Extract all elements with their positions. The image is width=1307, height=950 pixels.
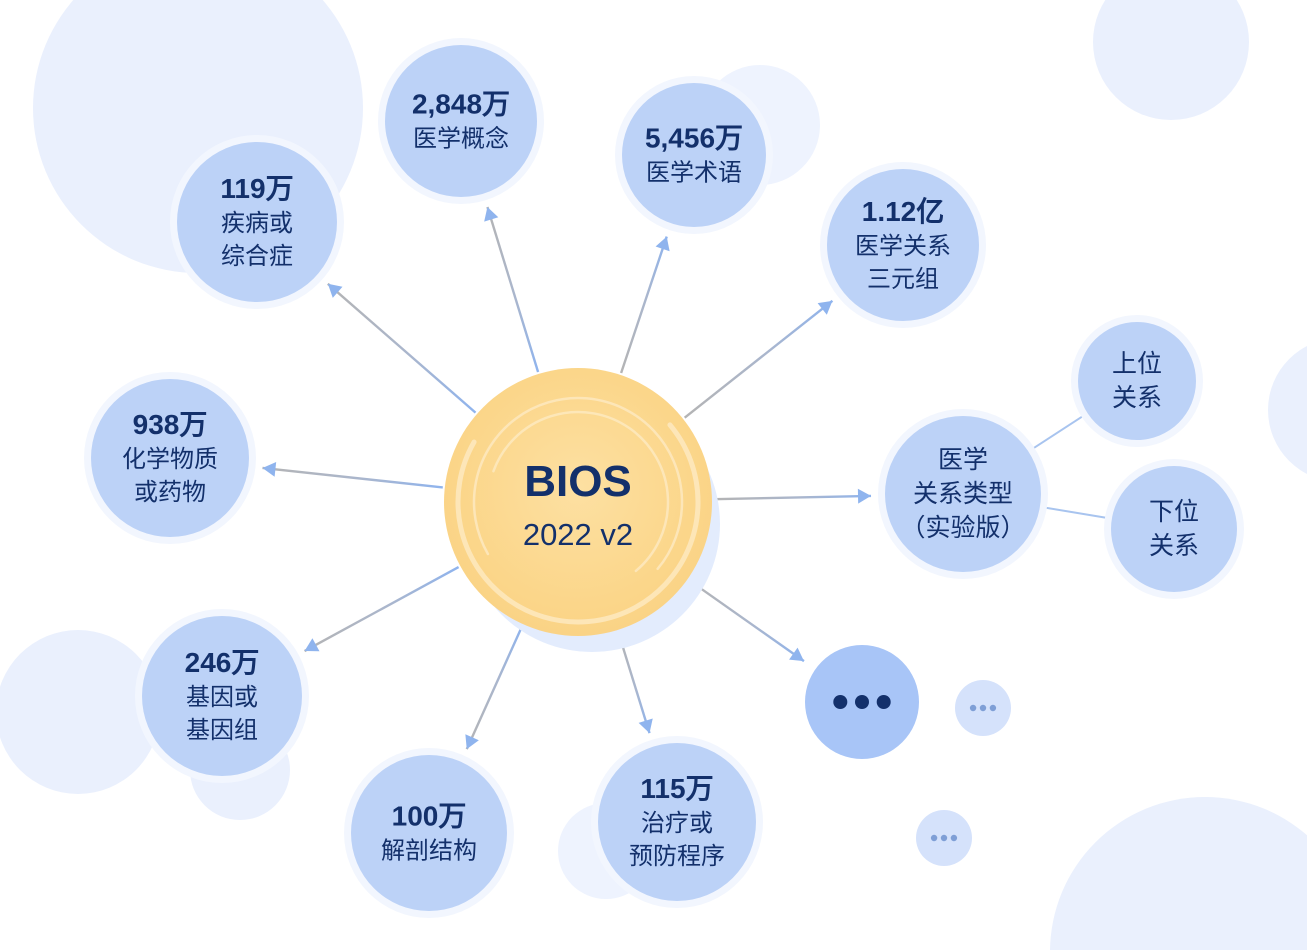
- diagram-canvas: BIOS2022 v2 2,848万医学概念5,456万医学术语1.12亿医学关…: [0, 0, 1307, 950]
- node-medical-concepts[interactable]: 2,848万医学概念: [378, 38, 544, 204]
- medical-relation-types-label-1: 医学: [938, 446, 988, 474]
- chemical-or-drug-label-1: 化学物质: [122, 446, 218, 473]
- arrow-to-gene-or-genome: [305, 567, 459, 651]
- disease-or-syndrome-label-2: 综合症: [221, 243, 293, 270]
- center-version: 2022 v2: [523, 517, 633, 552]
- treatment-or-prevention-number: 115万: [640, 773, 713, 804]
- more-entities-large-dot-1: [833, 695, 847, 709]
- hypernym-relation-label-2: 关系: [1112, 384, 1162, 412]
- disease-or-syndrome-number: 119万: [220, 173, 293, 204]
- node-treatment-or-prevention[interactable]: 115万治疗或预防程序: [591, 736, 763, 908]
- arrow-to-chemical-or-drug-line: [262, 468, 442, 487]
- arrow-to-medical-terms: [621, 237, 670, 373]
- node-more-entities-large[interactable]: [805, 645, 919, 759]
- hypernym-relation-circle[interactable]: [1078, 322, 1196, 440]
- node-gene-or-genome[interactable]: 246万基因或基因组: [135, 609, 309, 783]
- medical-relation-triples-number: 1.12亿: [862, 196, 945, 227]
- anatomical-structure-number: 100万: [392, 801, 467, 832]
- gene-or-genome-label-2: 基因组: [186, 717, 258, 744]
- arrow-to-more-entities-head: [789, 648, 804, 662]
- medical-relation-triples-label-1: 医学关系: [855, 233, 951, 260]
- anatomical-structure-label-1: 解剖结构: [381, 838, 477, 865]
- more-entities-small-right-dot-1: [970, 705, 976, 711]
- arrow-to-gene-or-genome-line: [305, 567, 459, 651]
- more-entities-small-bottom-dot-1: [931, 835, 937, 841]
- hypernym-relation-label-1: 上位: [1112, 350, 1162, 378]
- node-medical-relation-triples[interactable]: 1.12亿医学关系三元组: [820, 162, 986, 328]
- more-entities-small-right-dot-3: [990, 705, 996, 711]
- medical-relation-types-label-3: （实验版）: [900, 514, 1025, 542]
- medical-terms-circle[interactable]: [622, 83, 766, 227]
- arrow-to-medical-concepts-line: [487, 207, 538, 372]
- node-medical-terms[interactable]: 5,456万医学术语: [615, 76, 773, 234]
- more-entities-small-right-dot-2: [980, 705, 986, 711]
- anatomical-structure-circle[interactable]: [351, 755, 507, 911]
- arrow-to-more-entities-line: [689, 580, 804, 661]
- gene-or-genome-number: 246万: [185, 647, 260, 678]
- more-entities-small-bottom-dot-3: [951, 835, 957, 841]
- arrow-to-medical-relation-triples-head: [818, 301, 833, 315]
- chemical-or-drug-label-2: 或药物: [134, 479, 206, 506]
- arrow-to-disease-or-syndrome: [328, 284, 476, 413]
- medical-concepts-label-1: 医学概念: [413, 126, 509, 153]
- decor-right-edge: [1268, 338, 1307, 482]
- link-medical-relation-types-to-hyponym-relation: [1039, 507, 1113, 519]
- arrow-to-medical-relation-triples-line: [685, 301, 833, 418]
- node-chemical-or-drug[interactable]: 938万化学物质或药物: [84, 372, 256, 544]
- arrow-to-medical-concepts-head: [484, 207, 498, 222]
- chemical-or-drug-number: 938万: [133, 409, 208, 440]
- arrow-to-medical-relation-types: [714, 489, 871, 504]
- more-entities-large-dot-2: [855, 695, 869, 709]
- gene-or-genome-label-1: 基因或: [186, 684, 258, 711]
- medical-concepts-circle[interactable]: [385, 45, 537, 197]
- treatment-or-prevention-label-2: 预防程序: [629, 843, 725, 870]
- medical-terms-label-1: 医学术语: [646, 160, 742, 187]
- medical-relation-types-label-2: 关系类型: [913, 480, 1013, 508]
- hyponym-relation-label-2: 关系: [1149, 532, 1199, 560]
- arrow-to-anatomical-structure: [465, 626, 522, 749]
- arrow-to-medical-relation-types-head: [858, 489, 871, 504]
- arrow-to-more-entities: [689, 580, 804, 661]
- node-hypernym-relation[interactable]: 上位关系: [1071, 315, 1203, 447]
- node-disease-or-syndrome[interactable]: 119万疾病或综合症: [170, 135, 344, 309]
- treatment-or-prevention-label-1: 治疗或: [641, 810, 713, 837]
- node-hyponym-relation[interactable]: 下位关系: [1104, 459, 1244, 599]
- arrow-to-anatomical-structure-line: [467, 626, 522, 749]
- arrow-to-medical-terms-line: [621, 237, 667, 373]
- arrow-to-chemical-or-drug: [262, 462, 442, 487]
- link-medical-relation-types-to-hypernym-relation: [1028, 413, 1089, 452]
- medical-terms-number: 5,456万: [645, 123, 743, 154]
- center-title: BIOS: [524, 457, 632, 506]
- node-medical-relation-types[interactable]: 医学关系类型（实验版）: [878, 409, 1048, 579]
- more-entities-large-dot-3: [877, 695, 891, 709]
- arrow-to-medical-relation-triples: [685, 301, 833, 418]
- hyponym-relation-circle[interactable]: [1111, 466, 1237, 592]
- medical-concepts-number: 2,848万: [412, 89, 510, 120]
- hyponym-relation-label-1: 下位: [1149, 498, 1199, 526]
- decor-bottom-right: [1050, 797, 1307, 950]
- decor-bottom-left: [0, 630, 160, 794]
- center-node-group: BIOS2022 v2: [444, 368, 720, 652]
- disease-or-syndrome-label-1: 疾病或: [221, 210, 293, 237]
- more-entities-small-bottom-dot-2: [941, 835, 947, 841]
- arrow-to-medical-concepts: [484, 207, 538, 372]
- arrow-to-chemical-or-drug-head: [262, 462, 276, 477]
- node-more-entities-small-bottom[interactable]: [916, 810, 972, 866]
- arrow-to-treatment-or-prevention-head: [639, 719, 653, 734]
- decor-top-right: [1093, 0, 1249, 120]
- arrow-to-medical-relation-types-line: [714, 496, 871, 499]
- node-anatomical-structure[interactable]: 100万解剖结构: [344, 748, 514, 918]
- arrow-to-disease-or-syndrome-line: [328, 284, 476, 413]
- node-more-entities-small-right[interactable]: [955, 680, 1011, 736]
- medical-relation-triples-label-2: 三元组: [867, 266, 939, 293]
- bios-knowledge-graph-diagram: BIOS2022 v2 2,848万医学概念5,456万医学术语1.12亿医学关…: [0, 0, 1307, 950]
